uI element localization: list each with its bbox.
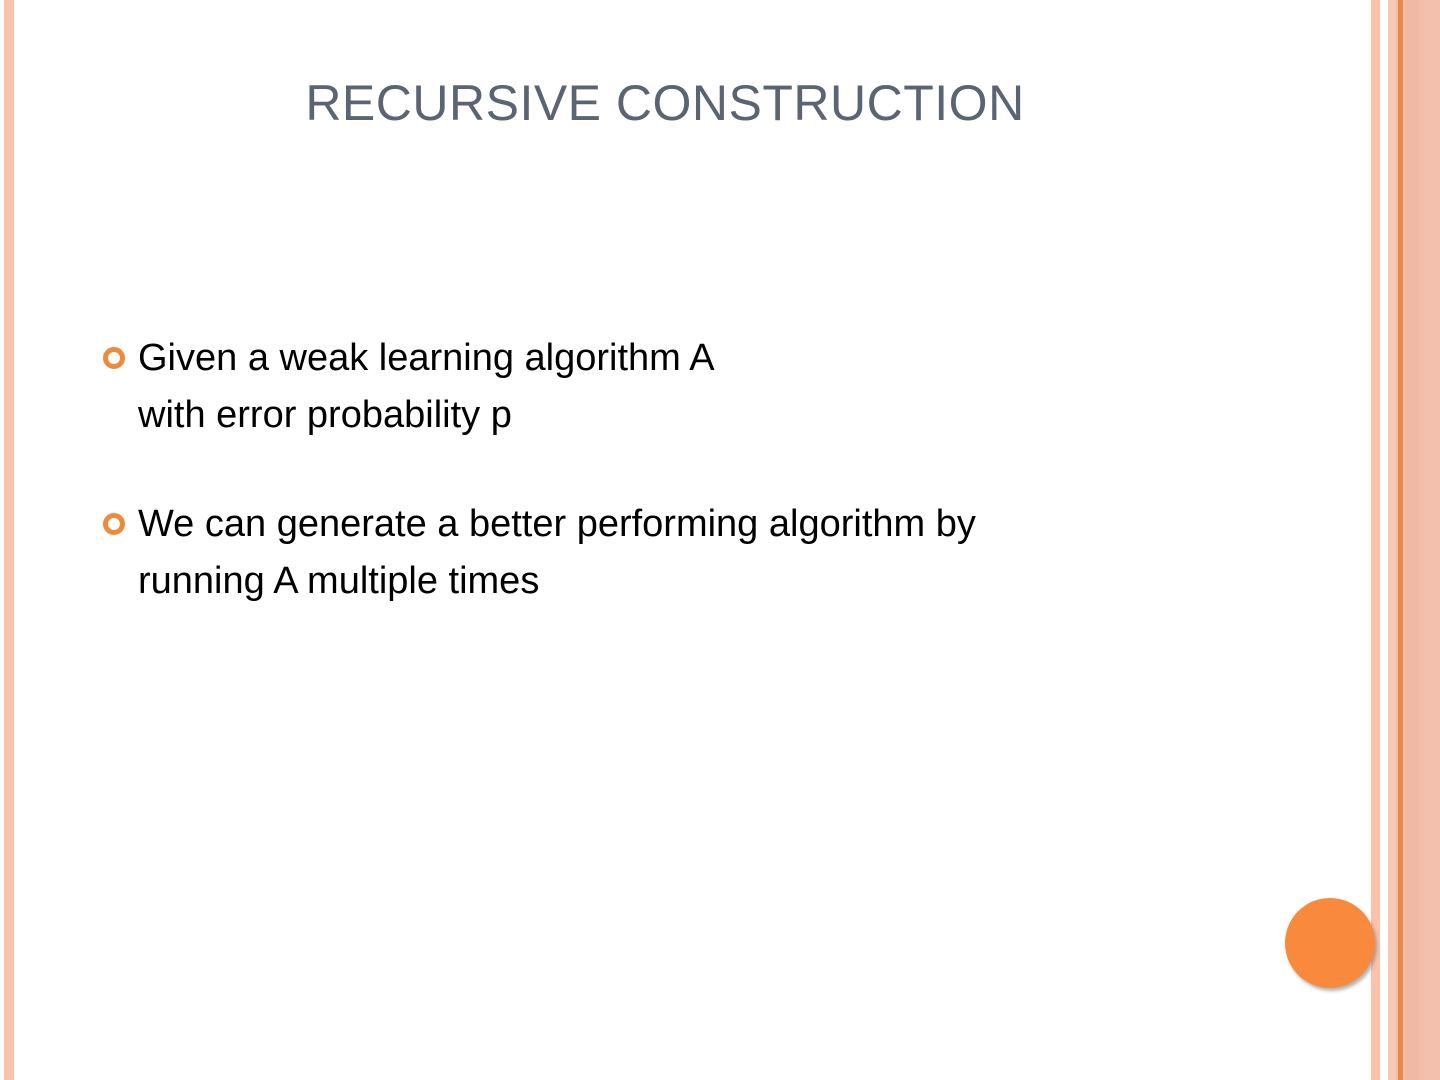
right-band-soft-stripe	[1405, 0, 1419, 1080]
slide-canvas: RECURSIVE CONSTRUCTION Given a weak lear…	[0, 0, 1440, 1080]
bullet-ring-icon	[103, 513, 125, 535]
list-item: We can generate a better performing algo…	[96, 496, 1256, 610]
bullet-line: with error probability p	[138, 387, 1256, 444]
bullet-line: We can generate a better performing algo…	[138, 496, 1256, 553]
page-title: RECURSIVE CONSTRUCTION	[0, 74, 1330, 132]
right-band-accent-line	[1398, 0, 1403, 1080]
bullet-ring-icon	[103, 347, 125, 369]
right-band-outer-stripe	[1424, 0, 1440, 1080]
bullet-line: running A multiple times	[138, 553, 1256, 610]
right-thin-stripe	[1371, 0, 1380, 1080]
bullet-list: Given a weak learning algorithm A with e…	[96, 330, 1256, 610]
bullet-line: Given a weak learning algorithm A	[138, 330, 1256, 387]
accent-circle-decoration	[1285, 898, 1375, 988]
right-band-pale-stripe	[1388, 0, 1396, 1080]
left-decorative-stripe	[4, 0, 14, 1080]
list-item: Given a weak learning algorithm A with e…	[96, 330, 1256, 444]
